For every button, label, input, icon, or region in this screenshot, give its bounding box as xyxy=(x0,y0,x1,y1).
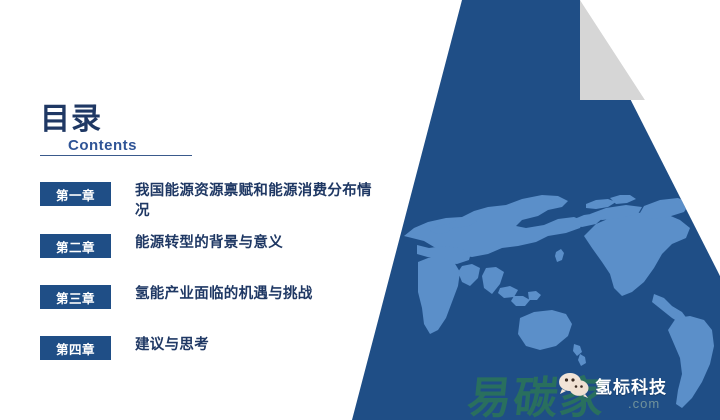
watermark-brand-text: 易碳家 xyxy=(465,362,610,420)
chapter-badge-1[interactable]: 第一章 xyxy=(40,182,111,206)
toc-item-2[interactable]: 第二章 能源转型的背景与意义 xyxy=(40,233,380,263)
page-title-cn: 目录 xyxy=(40,104,340,136)
wechat-watermark: 氢标科技 xyxy=(558,372,667,398)
chapter-badge-4[interactable]: 第四章 xyxy=(40,336,111,360)
title-underline-rule xyxy=(40,155,192,156)
folded-corner-shadow xyxy=(580,0,720,276)
blue-polygon xyxy=(352,0,720,420)
chapter-title-3[interactable]: 氢能产业面临的机遇与挑战 xyxy=(135,284,313,304)
toc-item-1[interactable]: 第一章 我国能源资源禀赋和能源消费分布情况 xyxy=(40,181,380,221)
watermark-domain-text: .com xyxy=(628,396,660,411)
slide-canvas: 目录 Contents 第一章 我国能源资源禀赋和能源消费分布情况 第二章 能源… xyxy=(0,0,720,420)
chapter-title-4[interactable]: 建议与思考 xyxy=(135,335,209,355)
world-map xyxy=(404,195,714,408)
wechat-watermark-label: 氢标科技 xyxy=(595,373,667,398)
chapter-badge-3[interactable]: 第三章 xyxy=(40,285,111,309)
toc-item-3[interactable]: 第三章 氢能产业面临的机遇与挑战 xyxy=(40,284,380,314)
folded-corner-triangle xyxy=(580,0,645,100)
chapter-title-1[interactable]: 我国能源资源禀赋和能源消费分布情况 xyxy=(135,181,380,221)
chapter-title-2[interactable]: 能源转型的背景与意义 xyxy=(135,233,283,253)
page-title-en: Contents xyxy=(68,137,340,154)
toc-item-4[interactable]: 第四章 建议与思考 xyxy=(40,335,380,365)
page-title-block: 目录 Contents xyxy=(40,104,340,154)
chapter-badge-2[interactable]: 第二章 xyxy=(40,234,111,258)
table-of-contents: 第一章 我国能源资源禀赋和能源消费分布情况 第二章 能源转型的背景与意义 第三章… xyxy=(40,181,380,365)
wechat-icon xyxy=(558,372,590,398)
